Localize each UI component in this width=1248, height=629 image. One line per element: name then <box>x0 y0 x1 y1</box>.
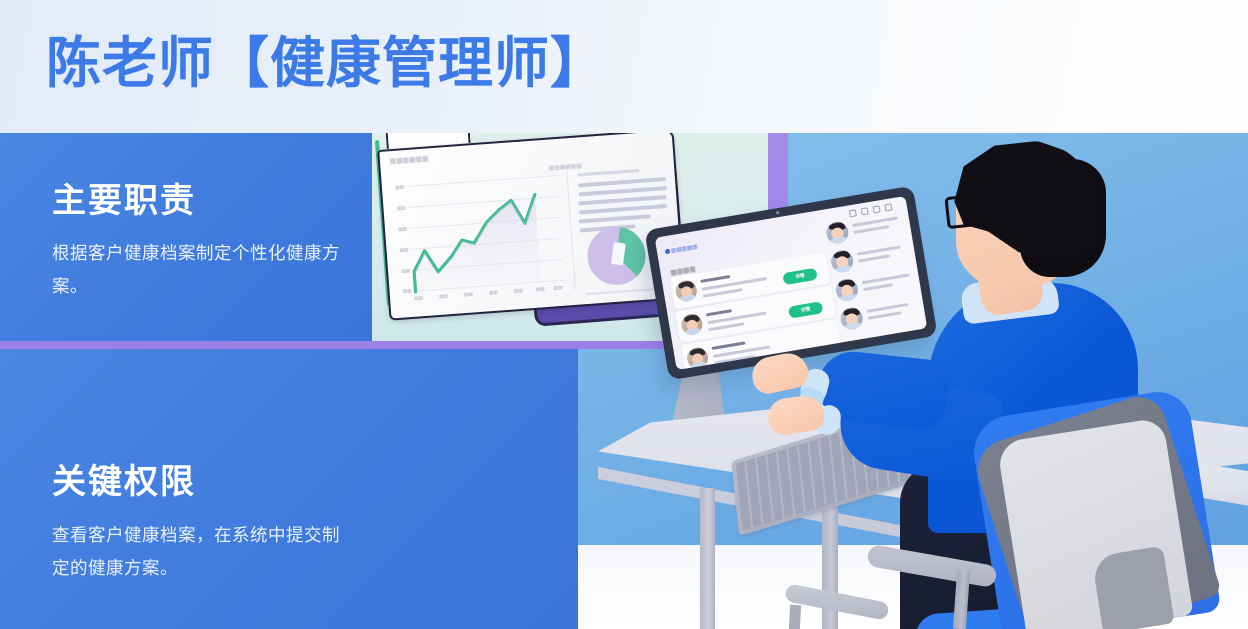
detail-button[interactable]: 详情 <box>782 268 818 285</box>
office-chair-front <box>985 403 1248 629</box>
tablet-camera-icon <box>776 211 779 214</box>
card-main-duty-body: 根据客户健康档案制定个性化健康方案。 <box>52 237 352 303</box>
client-list[interactable]: 详情 详情 <box>667 236 842 365</box>
minimize-icon[interactable] <box>849 209 857 217</box>
chair-armrest-post <box>788 605 801 629</box>
report-title-placeholder: ▤▨▥▧▨▥ <box>390 154 429 165</box>
avatar <box>834 277 859 302</box>
card-main-duty: 主要职责 根据客户健康档案制定个性化健康方案。 <box>0 133 372 341</box>
app-logo-icon <box>665 249 671 255</box>
list-item-name <box>700 275 730 283</box>
report-line-chart: ▨▥ ▥▧ ▧▨ ▨▥ ▥▧ ▧▥ ▥▨ ▨▥ ▥▧ ▧▥ ▥▨ ▨▧ ▧▥ <box>406 175 566 294</box>
header-banner: 陈老师【健康管理师】 <box>0 0 1248 133</box>
avatar <box>680 312 704 336</box>
avatar <box>674 279 698 303</box>
list-item-name <box>711 341 745 350</box>
desk-leg <box>700 488 715 629</box>
avatar <box>825 220 850 245</box>
list-item-line2 <box>708 322 744 331</box>
avatar <box>829 249 854 274</box>
card-key-permission: 关键权限 查看客户健康档案，在系统中提交制定的健康方案。 <box>0 349 578 629</box>
slide-canvas: 陈老师【健康管理师】 主要职责 根据客户健康档案制定个性化健康方案。 关键权限 … <box>0 0 1248 629</box>
avatar <box>685 346 709 370</box>
card-main-duty-heading: 主要职责 <box>52 173 196 222</box>
report-chart-svg <box>406 175 566 294</box>
chair-lumbar-support <box>1091 546 1174 629</box>
page-title: 陈老师【健康管理师】 <box>46 30 606 96</box>
report-sheet: ▤▨▥▧▨▥ ▨▥▧▧▥▨ ▨▥ ▥▧ ▧▨ ▨▥ ▥▧ ▧▥ <box>377 133 686 321</box>
report-divider <box>566 170 576 290</box>
app-brand-name: ▥▨▥▧▥ <box>671 244 699 254</box>
card-key-permission-heading: 关键权限 <box>52 454 196 503</box>
card-key-permission-body: 查看客户健康档案，在系统中提交制定的健康方案。 <box>52 519 352 585</box>
list-item-name <box>706 309 732 316</box>
detail-button[interactable]: 详情 <box>788 301 824 318</box>
illustration-area: 主要职责 根据客户健康档案制定个性化健康方案。 关键权限 查看客户健康档案，在系… <box>0 133 1248 629</box>
